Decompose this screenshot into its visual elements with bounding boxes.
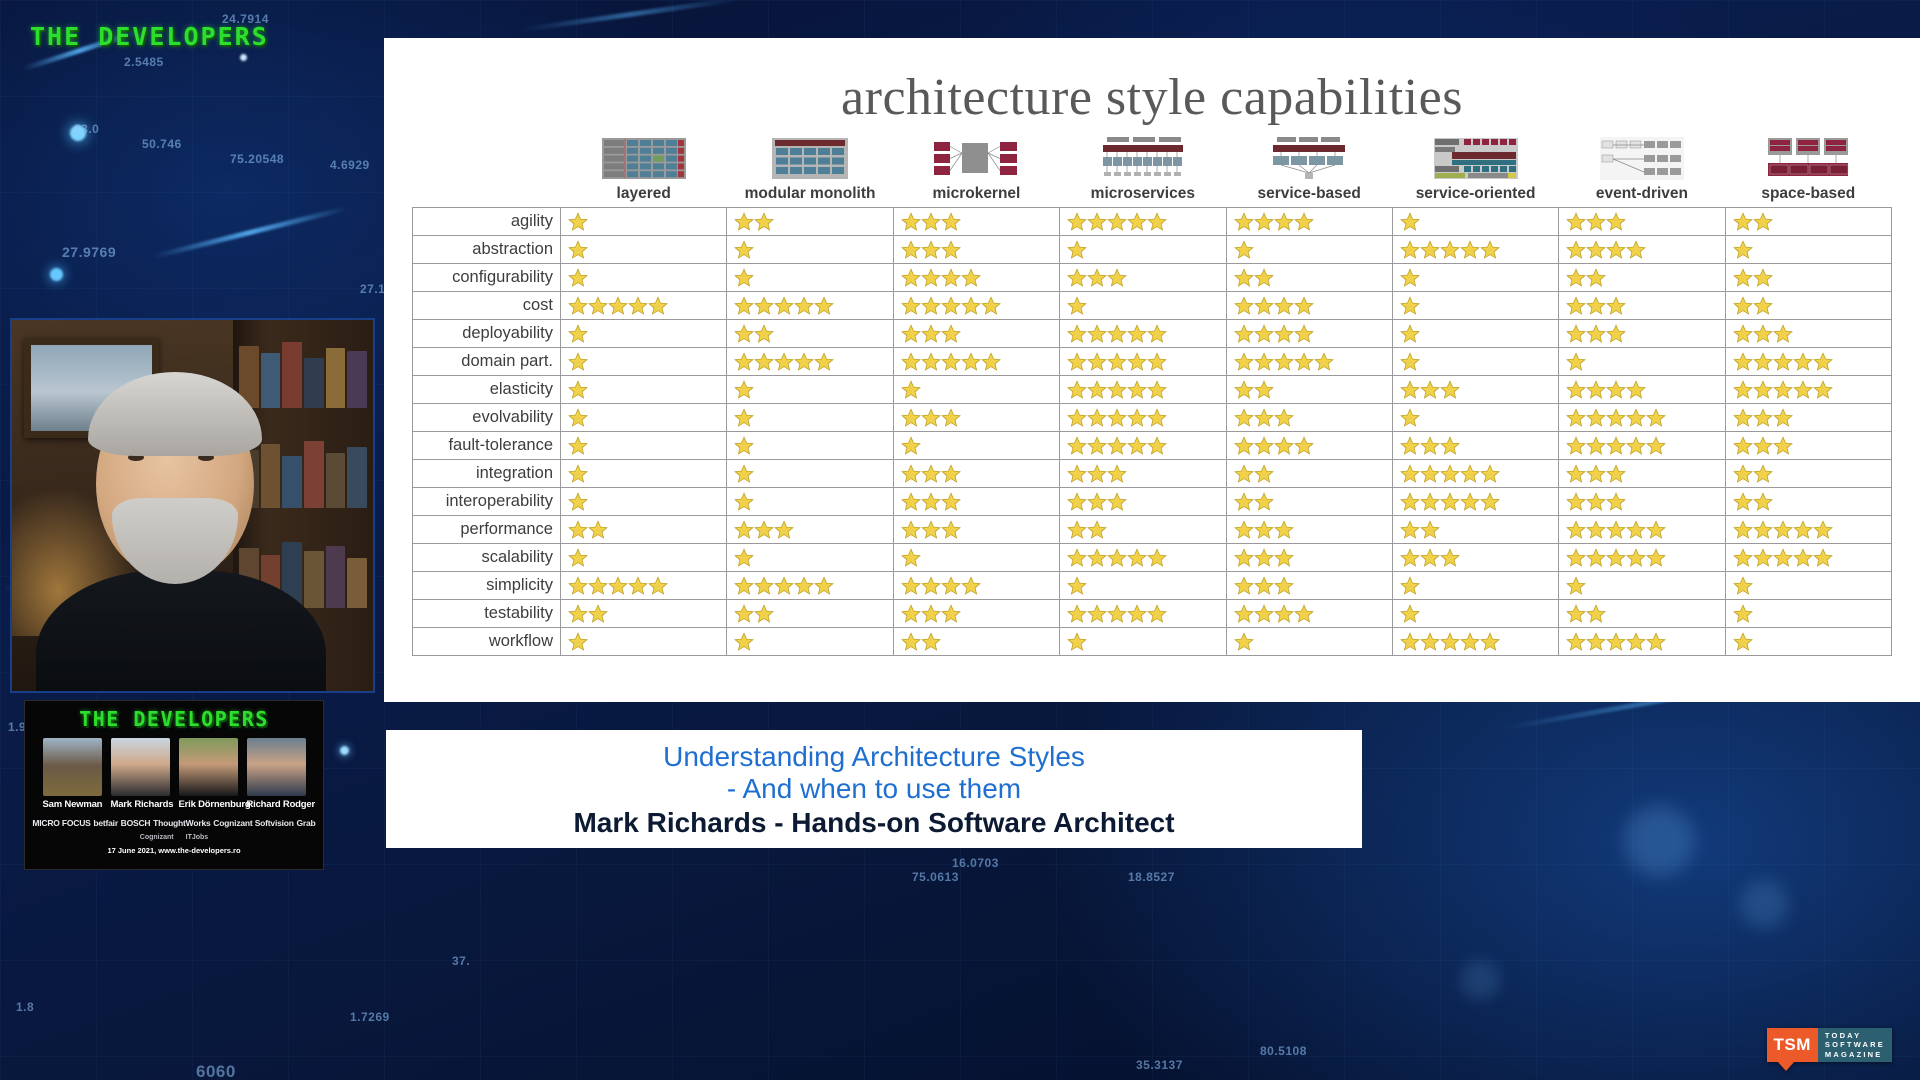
star-icon (1566, 352, 1586, 371)
rating-cell (1392, 236, 1558, 264)
rating-cell (727, 404, 893, 432)
rating-cell (727, 292, 893, 320)
star-icon (1420, 240, 1440, 259)
star-icon (1274, 548, 1294, 567)
star-icon (1586, 380, 1606, 399)
star-icon (1087, 492, 1107, 511)
sponsor-logo: Grab (297, 818, 316, 828)
rating-cell (893, 404, 1059, 432)
star-icon (1733, 380, 1753, 399)
architecture-thumbnail-service-oriented (1392, 137, 1558, 180)
rating-cell (1392, 488, 1558, 516)
column-header-label: service-oriented (1392, 185, 1558, 203)
brand-watermark: THE DEVELOPERS (30, 22, 269, 51)
rating-cell (1226, 236, 1392, 264)
star-icon (1646, 436, 1666, 455)
rating-cell (1559, 320, 1725, 348)
avatar (111, 738, 170, 796)
star-icon (774, 520, 794, 539)
star-icon (921, 604, 941, 623)
star-icon (1586, 548, 1606, 567)
star-icon (1733, 576, 1753, 595)
star-icon (1733, 352, 1753, 371)
rating-cell (561, 432, 727, 460)
bg-bokeh (70, 125, 86, 141)
star-icon (1733, 604, 1753, 623)
star-icon (1586, 436, 1606, 455)
star-icon (1813, 380, 1833, 399)
star-icon (1606, 548, 1626, 567)
rating-cell (893, 572, 1059, 600)
rating-cell (1725, 432, 1891, 460)
rating-cell (1226, 572, 1392, 600)
rating-cell (727, 460, 893, 488)
star-icon (901, 296, 921, 315)
star-icon (1400, 212, 1420, 231)
rating-cell (1559, 236, 1725, 264)
star-icon (1067, 632, 1087, 651)
rating-cell (1060, 572, 1226, 600)
star-icon (1646, 408, 1666, 427)
rating-cell (1392, 376, 1558, 404)
rating-cell (893, 348, 1059, 376)
rating-cell (1559, 376, 1725, 404)
star-icon (921, 352, 941, 371)
rating-cell (1060, 628, 1226, 656)
star-icon (1566, 212, 1586, 231)
bg-number: 83.0 (74, 122, 99, 136)
star-icon (608, 296, 628, 315)
star-icon (1107, 436, 1127, 455)
rating-cell (727, 628, 893, 656)
star-icon (1566, 604, 1586, 623)
star-icon (1087, 604, 1107, 623)
table-row: interoperability (413, 488, 1892, 516)
star-icon (1773, 548, 1793, 567)
star-icon (1480, 492, 1500, 511)
star-icon (1087, 408, 1107, 427)
star-icon (774, 576, 794, 595)
presentation-slide: architecture style capabilities layeredm… (384, 38, 1920, 702)
star-icon (734, 380, 754, 399)
star-icon (921, 324, 941, 343)
star-icon (1274, 324, 1294, 343)
star-icon (1626, 548, 1646, 567)
star-icon (941, 324, 961, 343)
star-icon (1753, 408, 1773, 427)
star-icon (1107, 492, 1127, 511)
star-icon (734, 268, 754, 287)
star-icon (734, 436, 754, 455)
tsm-logo-wordmark: TODAY SOFTWARE MAGAZINE (1818, 1028, 1892, 1062)
star-icon (941, 576, 961, 595)
rating-cell (727, 236, 893, 264)
star-icon (1087, 464, 1107, 483)
rating-cell (1392, 264, 1558, 292)
tsm-logo-line-3: MAGAZINE (1825, 1050, 1885, 1060)
tsm-logo-line-2: SOFTWARE (1825, 1040, 1885, 1050)
speaker-name: Erik Dörnenburg (179, 799, 238, 810)
table-row: deployability (413, 320, 1892, 348)
star-icon (1294, 604, 1314, 623)
column-header-label: microservices (1060, 185, 1226, 203)
star-icon (1793, 548, 1813, 567)
star-icon (1254, 436, 1274, 455)
rating-cell (1392, 404, 1558, 432)
star-icon (1480, 464, 1500, 483)
star-icon (1460, 632, 1480, 651)
rating-cell (727, 376, 893, 404)
broadcast-stage: 24.7914 2.5485 83.0 50.746 75.20548 4.69… (0, 0, 1920, 1080)
star-icon (568, 296, 588, 315)
star-icon (961, 296, 981, 315)
star-icon (1733, 268, 1753, 287)
star-icon (961, 268, 981, 287)
rating-cell (1226, 488, 1392, 516)
star-icon (1773, 520, 1793, 539)
rating-cell (1060, 208, 1226, 236)
bg-number: 16.0703 (952, 856, 999, 870)
star-icon (1400, 436, 1420, 455)
rating-cell (1392, 348, 1558, 376)
star-icon (1793, 352, 1813, 371)
star-icon (754, 296, 774, 315)
rating-cell (1060, 404, 1226, 432)
bg-number: 75.20548 (230, 152, 284, 166)
star-icon (941, 268, 961, 287)
star-icon (1733, 548, 1753, 567)
star-icon (1274, 604, 1294, 623)
rating-cell (1060, 600, 1226, 628)
star-icon (1147, 380, 1167, 399)
star-icon (1147, 324, 1167, 343)
star-icon (1753, 520, 1773, 539)
star-icon (1127, 324, 1147, 343)
row-header-domain-part-: domain part. (413, 348, 561, 376)
rating-cell (1559, 432, 1725, 460)
star-icon (1067, 548, 1087, 567)
star-icon (1566, 240, 1586, 259)
star-icon (1127, 604, 1147, 623)
star-icon (734, 408, 754, 427)
sponsor-logo: BOSCH (121, 818, 151, 828)
star-icon (1400, 632, 1420, 651)
bg-number: 27.9769 (62, 244, 116, 260)
star-icon (734, 352, 754, 371)
star-icon (1753, 436, 1773, 455)
rating-cell (727, 572, 893, 600)
star-icon (1440, 632, 1460, 651)
star-icon (1440, 436, 1460, 455)
sponsor-logo: Cognizant (140, 834, 174, 841)
star-icon (1127, 436, 1147, 455)
star-icon (588, 604, 608, 623)
star-icon (941, 604, 961, 623)
star-icon (1586, 632, 1606, 651)
star-icon (1626, 380, 1646, 399)
rating-cell (1559, 600, 1725, 628)
rating-cell (1392, 320, 1558, 348)
column-header-label: space-based (1725, 185, 1891, 203)
star-icon (1733, 408, 1753, 427)
star-icon (1733, 240, 1753, 259)
table-row: fault-tolerance (413, 432, 1892, 460)
star-icon (568, 436, 588, 455)
star-icon (1440, 240, 1460, 259)
star-icon (1400, 548, 1420, 567)
star-icon (1234, 632, 1254, 651)
star-icon (774, 352, 794, 371)
star-icon (941, 520, 961, 539)
star-icon (1087, 520, 1107, 539)
rating-cell (561, 460, 727, 488)
star-icon (1753, 268, 1773, 287)
star-icon (568, 576, 588, 595)
star-icon (1733, 212, 1753, 231)
row-header-agility: agility (413, 208, 561, 236)
star-icon (1147, 604, 1167, 623)
star-icon (568, 604, 588, 623)
table-row: configurability (413, 264, 1892, 292)
rating-cell (561, 320, 727, 348)
star-icon (1127, 212, 1147, 231)
star-icon (1254, 492, 1274, 511)
row-header-workflow: workflow (413, 628, 561, 656)
star-icon (981, 352, 1001, 371)
star-icon (1274, 436, 1294, 455)
star-icon (1773, 324, 1793, 343)
star-icon (1087, 268, 1107, 287)
star-icon (1107, 212, 1127, 231)
column-header-label: service-based (1226, 185, 1392, 203)
column-header-label: event-driven (1559, 185, 1725, 203)
rating-cell (893, 208, 1059, 236)
bg-streak (521, 0, 740, 32)
star-icon (1420, 464, 1440, 483)
column-header-microkernel: microkernel (893, 137, 1059, 208)
rating-cell (561, 544, 727, 572)
star-icon (568, 212, 588, 231)
star-icon (588, 296, 608, 315)
star-icon (1067, 436, 1087, 455)
star-icon (568, 464, 588, 483)
rating-cell (561, 404, 727, 432)
avatar (179, 738, 238, 796)
rating-cell (1226, 432, 1392, 460)
star-icon (1067, 604, 1087, 623)
rating-cell (727, 264, 893, 292)
star-icon (1147, 212, 1167, 231)
row-header-integration: integration (413, 460, 561, 488)
star-icon (1274, 408, 1294, 427)
table-row: agility (413, 208, 1892, 236)
rating-cell (727, 348, 893, 376)
bg-bokeh (1624, 806, 1694, 876)
star-icon (1733, 296, 1753, 315)
tsm-logo-line-1: TODAY (1825, 1031, 1885, 1041)
rating-cell (1392, 544, 1558, 572)
star-icon (1400, 576, 1420, 595)
star-icon (734, 604, 754, 623)
table-row: domain part. (413, 348, 1892, 376)
star-icon (1254, 548, 1274, 567)
star-icon (1254, 352, 1274, 371)
rating-cell (561, 208, 727, 236)
table-row: workflow (413, 628, 1892, 656)
column-header-service-based: service-based (1226, 137, 1392, 208)
speaker-thumb: Sam Newman (43, 738, 102, 810)
rating-cell (1725, 292, 1891, 320)
rating-cell (1226, 600, 1392, 628)
table-row: abstraction (413, 236, 1892, 264)
rating-cell (561, 264, 727, 292)
sponsor-logo-row: MICRO FOCUS betfair BOSCH ThoughtWorks C… (25, 818, 323, 828)
star-icon (1254, 212, 1274, 231)
table-row: elasticity (413, 376, 1892, 404)
star-icon (568, 408, 588, 427)
star-icon (1067, 380, 1087, 399)
rating-cell (1226, 628, 1392, 656)
rating-cell (1060, 544, 1226, 572)
star-icon (814, 296, 834, 315)
bg-streak (152, 206, 347, 259)
bg-bokeh (50, 268, 63, 281)
book-row (239, 438, 367, 508)
capabilities-table: layeredmodular monolithmicrokernelmicros… (412, 137, 1892, 656)
star-icon (1067, 268, 1087, 287)
rating-cell (1060, 236, 1226, 264)
star-icon (1480, 632, 1500, 651)
star-icon (1733, 324, 1753, 343)
star-icon (1566, 520, 1586, 539)
row-header-elasticity: elasticity (413, 376, 561, 404)
star-icon (568, 324, 588, 343)
star-icon (1793, 520, 1813, 539)
star-icon (1566, 492, 1586, 511)
table-header-row: layeredmodular monolithmicrokernelmicros… (413, 137, 1892, 208)
star-icon (941, 492, 961, 511)
star-icon (1813, 352, 1833, 371)
sponsor-card-title: THE DEVELOPERS (25, 707, 323, 731)
rating-cell (1060, 516, 1226, 544)
rating-cell (1060, 432, 1226, 460)
column-header-label: microkernel (893, 185, 1059, 203)
row-header-fault-tolerance: fault-tolerance (413, 432, 561, 460)
star-icon (1606, 464, 1626, 483)
star-icon (1420, 548, 1440, 567)
star-icon (901, 212, 921, 231)
star-icon (1067, 464, 1087, 483)
star-icon (1586, 268, 1606, 287)
rating-cell (1226, 320, 1392, 348)
rating-cell (893, 264, 1059, 292)
star-icon (1420, 632, 1440, 651)
star-icon (1420, 520, 1440, 539)
star-icon (1753, 464, 1773, 483)
star-icon (921, 520, 941, 539)
star-icon (1440, 492, 1460, 511)
star-icon (1254, 464, 1274, 483)
star-icon (921, 576, 941, 595)
star-icon (1254, 268, 1274, 287)
rating-cell (1559, 460, 1725, 488)
rating-cell (1060, 376, 1226, 404)
star-icon (901, 352, 921, 371)
star-icon (1234, 324, 1254, 343)
rating-cell (893, 320, 1059, 348)
speaker-webcam (10, 318, 375, 693)
star-icon (1274, 520, 1294, 539)
column-header-event-driven: event-driven (1559, 137, 1725, 208)
rating-cell (1392, 460, 1558, 488)
star-icon (648, 296, 668, 315)
rating-cell (727, 516, 893, 544)
sponsor-card: THE DEVELOPERS Sam Newman Mark Richards … (24, 700, 324, 870)
star-icon (1294, 296, 1314, 315)
star-icon (1274, 296, 1294, 315)
star-icon (1067, 576, 1087, 595)
star-icon (1606, 296, 1626, 315)
rating-cell (1226, 404, 1392, 432)
star-icon (1234, 520, 1254, 539)
star-icon (754, 324, 774, 343)
star-icon (901, 604, 921, 623)
star-icon (1107, 548, 1127, 567)
star-icon (1606, 520, 1626, 539)
star-icon (1586, 296, 1606, 315)
table-body: agilityabstractionconfigurabilitycostdep… (413, 208, 1892, 656)
bg-number: 80.5108 (1260, 1044, 1307, 1058)
star-icon (921, 632, 941, 651)
star-icon (1107, 324, 1127, 343)
star-icon (1087, 352, 1107, 371)
table-row: cost (413, 292, 1892, 320)
rating-cell (1725, 208, 1891, 236)
rating-cell (1392, 208, 1558, 236)
bg-number: 6060 (196, 1062, 236, 1080)
star-icon (1733, 492, 1753, 511)
sponsor-logo: Cognizant Softvision (213, 818, 294, 828)
rating-cell (1559, 292, 1725, 320)
star-icon (1773, 408, 1793, 427)
rating-cell (561, 376, 727, 404)
star-icon (734, 520, 754, 539)
star-icon (734, 324, 754, 343)
star-icon (1586, 492, 1606, 511)
star-icon (1127, 548, 1147, 567)
column-header-microservices: microservices (1060, 137, 1226, 208)
star-icon (1606, 492, 1626, 511)
star-icon (1733, 632, 1753, 651)
row-header-simplicity: simplicity (413, 572, 561, 600)
sponsor-logo-row-secondary: Cognizant ITJobs (25, 834, 323, 841)
star-icon (1753, 212, 1773, 231)
star-icon (1107, 268, 1127, 287)
bg-number: 50.746 (142, 137, 182, 151)
rating-cell (727, 432, 893, 460)
star-icon (1087, 324, 1107, 343)
bg-number: 2.5485 (124, 55, 164, 69)
rating-cell (1060, 292, 1226, 320)
star-icon (814, 576, 834, 595)
rating-cell (893, 628, 1059, 656)
star-icon (1400, 324, 1420, 343)
column-header-label: layered (561, 185, 727, 203)
star-icon (588, 520, 608, 539)
star-icon (1147, 352, 1167, 371)
star-icon (1586, 240, 1606, 259)
rating-cell (1559, 572, 1725, 600)
